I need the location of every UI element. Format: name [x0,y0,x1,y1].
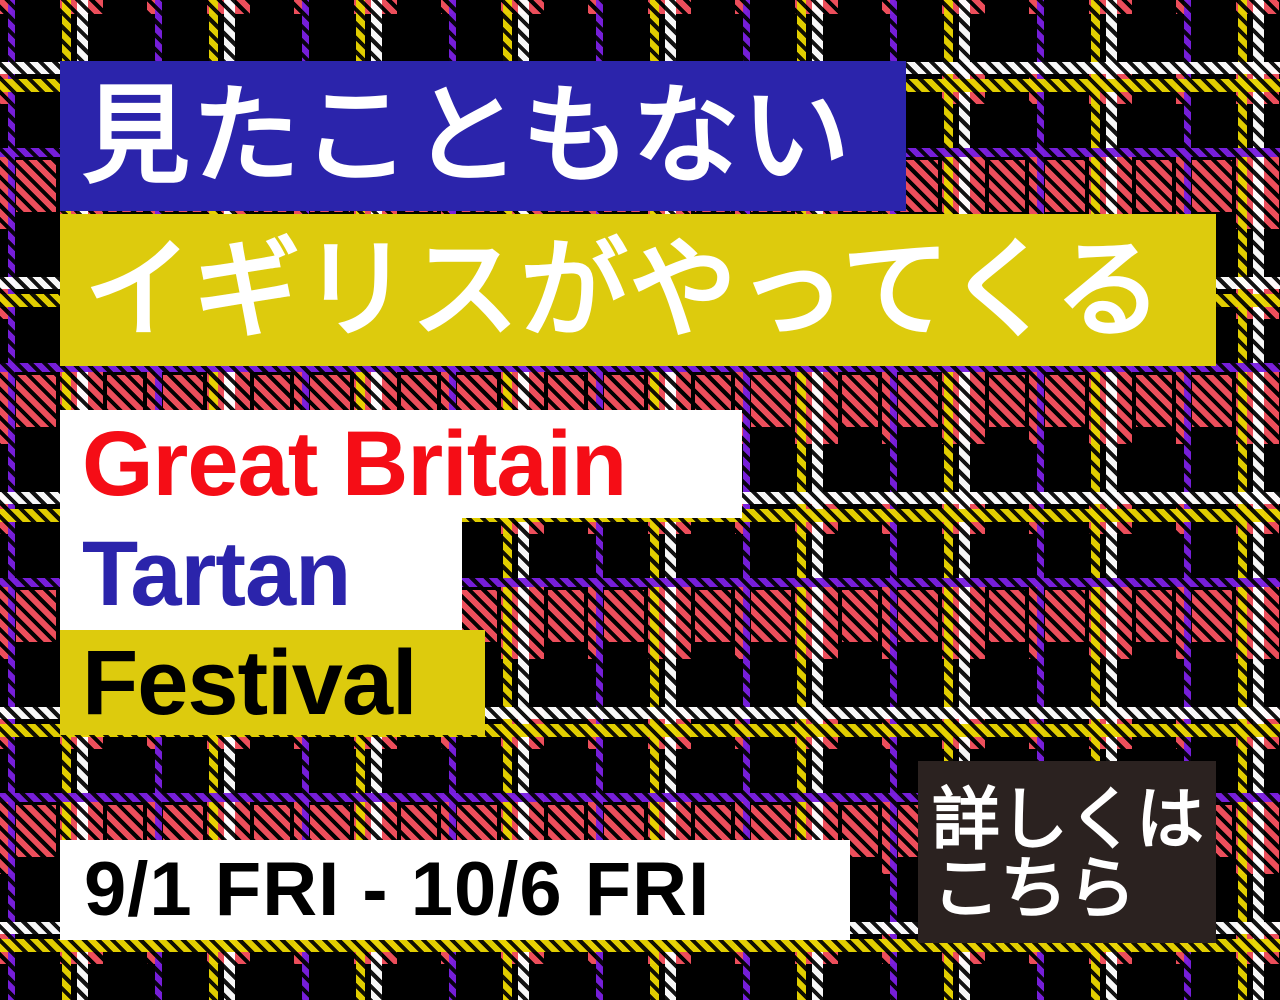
cta-line-1: 詳しくは [932,786,1216,855]
title-band-tartan: Tartan [60,518,462,630]
headline-band-primary: 見たこともない [60,61,906,211]
event-date-range: 9/1 FRI - 10/6 FRI [84,852,710,928]
headline-line-1: 見たこともない [82,82,852,190]
headline-band-secondary: イギリスがやってくる [60,214,1216,366]
title-line-3: Festival [82,637,417,729]
poster-foreground: 見たこともない イギリスがやってくる Great Britain Tartan … [0,0,1280,1000]
poster-canvas: 見たこともない イギリスがやってくる Great Britain Tartan … [0,0,1280,1000]
title-band-great-britain: Great Britain [60,410,742,518]
event-date-band: 9/1 FRI - 10/6 FRI [60,840,850,940]
details-cta-button[interactable]: 詳しくは こちら [918,761,1216,943]
cta-line-2: こちら [932,855,1216,924]
title-line-2: Tartan [82,528,350,620]
title-band-festival: Festival [60,630,485,735]
headline-line-2: イギリスがやってくる [84,236,1163,344]
title-line-1: Great Britain [82,418,626,510]
